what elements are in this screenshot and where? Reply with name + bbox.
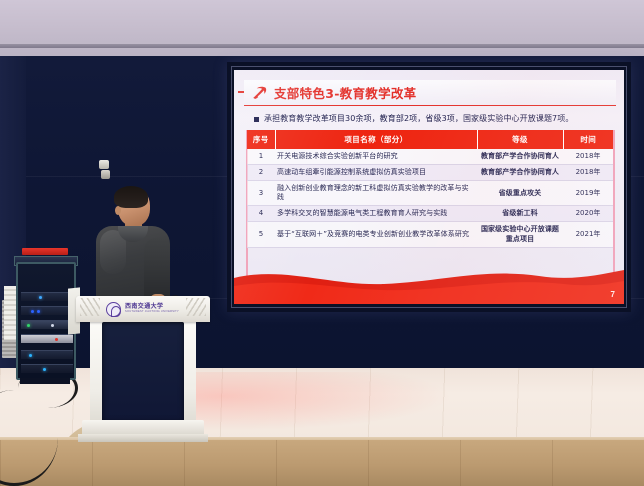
presenter-hair	[114, 186, 148, 208]
rack-unit	[21, 320, 73, 329]
slide-bullet-text: 承担教育教学改革项目30余项，教育部2项，省级3项，国家级实验中心开放课题7项。	[264, 114, 573, 124]
table-row: 1 开关电源技术综合实验创新平台的研究 教育部产学合作协同育人 2018年	[247, 149, 613, 165]
rack-unit	[21, 306, 73, 315]
rack-unit	[21, 334, 73, 343]
projects-table-body: 1 开关电源技术综合实验创新平台的研究 教育部产学合作协同育人 2018年 2 …	[247, 149, 613, 247]
presenter-ear	[115, 206, 121, 215]
table-row: 3 融入创新创业教育理念的新工科虚拟仿真实验教学的改革与实践 省级重点攻关 20…	[247, 181, 613, 206]
led-indicator	[37, 310, 40, 313]
table-row: 5 基于“互联网＋”及竞赛的电类专业创新创业教学改革体系研究 国家级实验中心开放…	[247, 222, 613, 247]
podium-front-panel	[102, 322, 184, 422]
cell-time: 2021年	[563, 222, 613, 247]
cell-level: 教育部产学合作协同育人	[477, 149, 563, 165]
podium-stripe-right	[186, 298, 206, 316]
university-logo: 西南交通大学 SOUTHWEST JIAOTONG UNIVERSITY	[106, 300, 186, 318]
table-header-row: 序号 项目名称（部分） 等级 时间	[247, 130, 613, 149]
podium-foot	[78, 434, 208, 442]
cell-no: 3	[247, 181, 275, 206]
av-equipment-rack	[16, 262, 76, 380]
led-indicator	[51, 324, 54, 327]
cell-project-name: 高速动车组牽引能源控制系统虚拟仿真实验项目	[275, 165, 477, 181]
podium: 西南交通大学 SOUTHWEST JIAOTONG UNIVERSITY	[76, 296, 210, 446]
rack-unit	[21, 364, 73, 373]
led-indicator	[27, 324, 30, 327]
led-indicator	[31, 310, 34, 313]
led-indicator	[43, 368, 46, 371]
cell-project-name: 多学科交叉的智慧能源电气类工程教育育人研究与实践	[275, 206, 477, 222]
table-row: 2 高速动车组牽引能源控制系统虚拟仿真实验项目 教育部产学合作协同育人 2018…	[247, 165, 613, 181]
cell-level: 教育部产学合作协同育人	[477, 165, 563, 181]
presentation-slide: 支部特色3-教育教学改革 承担教育教学改革项目30余项，教育部2项，省级3项，国…	[234, 70, 624, 304]
cell-no: 5	[247, 222, 275, 247]
wall-camera-body	[101, 170, 110, 179]
party-hammer-sickle-emblem	[251, 84, 268, 101]
upper-wall	[0, 0, 644, 60]
podium-top-face: 西南交通大学 SOUTHWEST JIAOTONG UNIVERSITY	[76, 296, 210, 322]
column-header-time: 时间	[563, 130, 613, 149]
cell-no: 4	[247, 206, 275, 222]
column-header-name: 项目名称（部分）	[275, 130, 477, 149]
cell-time: 2019年	[563, 181, 613, 206]
bullet-square-icon	[254, 117, 259, 122]
column-header-level: 等级	[477, 130, 563, 149]
cell-project-name: 开关电源技术综合实验创新平台的研究	[275, 149, 477, 165]
lecture-hall-photo: 西南交通大学 SOUTHWEST JIAOTONG UNIVERSITY 支部特…	[0, 0, 644, 486]
led-indicator	[29, 354, 32, 357]
cell-project-name: 基于“互联网＋”及竞赛的电类专业创新创业教学改革体系研究	[275, 222, 477, 247]
rack-unit	[21, 292, 73, 301]
rack-base	[20, 378, 70, 384]
stage-front-grain	[0, 440, 644, 486]
wall-camera-icon	[99, 160, 109, 169]
table-row: 4 多学科交叉的智慧能源电气类工程教育育人研究与实践 省级新工科 2020年	[247, 206, 613, 222]
slide-bullet: 承担教育教学改革项目30余项，教育部2项，省级3项，国家级实验中心开放课题7项。	[254, 114, 616, 124]
cell-level: 省级新工科	[477, 206, 563, 222]
cell-no: 1	[247, 149, 275, 165]
cell-project-name: 融入创新创业教育理念的新工科虚拟仿真实验教学的改革与实践	[275, 181, 477, 206]
slide-title: 支部特色3-教育教学改革	[274, 83, 417, 102]
university-seal-icon	[106, 302, 121, 317]
cell-time: 2018年	[563, 149, 613, 165]
cell-level: 省级重点攻关	[477, 181, 563, 206]
cell-no: 2	[247, 165, 275, 181]
slide-title-bar: 支部特色3-教育教学改革	[244, 80, 616, 106]
led-indicator	[39, 296, 42, 299]
led-indicator	[55, 338, 58, 341]
projects-table: 序号 项目名称（部分） 等级 时间 1 开关电源技术综合实验创新平台的研究 教育…	[247, 130, 613, 248]
rack-red-label	[22, 248, 68, 255]
cell-time: 2018年	[563, 165, 613, 181]
slide-page-number: 7	[611, 290, 615, 299]
university-name-en: SOUTHWEST JIAOTONG UNIVERSITY	[125, 310, 179, 314]
column-header-no: 序号	[247, 130, 275, 149]
rack-unit	[21, 350, 73, 359]
table-side-rule-right	[613, 130, 615, 282]
podium-stripe-left	[80, 298, 100, 316]
cell-time: 2020年	[563, 206, 613, 222]
cell-level: 国家级实验中心开放课题重点项目	[477, 222, 563, 247]
slide-footer-wave	[234, 264, 624, 304]
